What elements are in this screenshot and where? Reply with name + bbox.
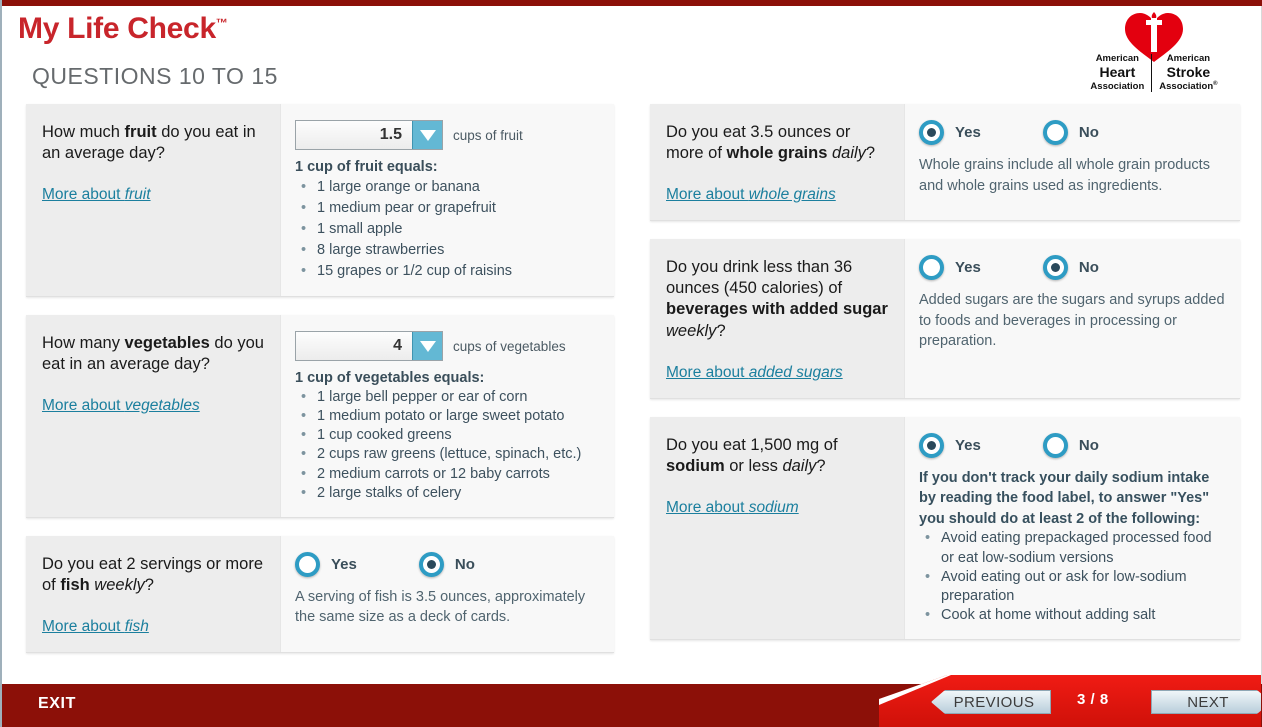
fish-note: A serving of fish is 3.5 ounces, approxi… [295,587,600,628]
sodium-note-heading: If you don't track your daily sodium int… [919,468,1226,530]
asa-line1: American [1159,53,1217,64]
radio-icon[interactable] [1043,120,1068,145]
answer-pane: Yes No A serving of fish is 3.5 ounces, … [280,536,614,652]
fruit-unit-label: cups of fruit [453,128,523,143]
list-item: 1 small apple [315,219,600,240]
question-card-fruit: How much fruit do you eat in an average … [26,104,614,297]
american-stroke-association-text: American Stroke Association® [1152,53,1224,92]
top-accent-bar [2,0,1262,6]
answer-pane: Yes No If you don't track your daily sod… [904,417,1240,639]
answer-pane: 1.5 cups of fruit 1 cup of fruit equals:… [280,104,614,296]
registered-symbol: ® [1213,81,1217,87]
radio-icon[interactable] [919,255,944,280]
radio-icon[interactable] [295,552,320,577]
question-text-vegetables: How many vegetables do you eat in an ave… [42,333,264,375]
radio-icon[interactable] [1043,255,1068,280]
american-heart-association-text: American Heart Association [1083,53,1151,92]
list-item: 2 medium carrots or 12 baby carrots [315,465,600,484]
vegetables-cups-value: 4 [296,332,412,360]
aha-asa-logo: American Heart Association American Stro… [1063,8,1245,94]
whole-grains-radio-yes[interactable]: Yes [919,120,981,145]
question-card-added-sugars: Do you drink less than 36 ounces (450 ca… [650,239,1240,398]
questions-column-right: Do you eat 3.5 ounces or more of whole g… [650,104,1240,658]
questions-column-left: How much fruit do you eat in an average … [26,104,614,671]
radio-label: No [1079,124,1099,141]
more-about-sodium-link[interactable]: More about sodium [666,499,799,517]
vegetables-equivalents-list: 1 large bell pepper or ear of corn 1 med… [295,388,600,503]
list-item: 1 large bell pepper or ear of corn [315,388,600,407]
radio-icon[interactable] [919,433,944,458]
section-subtitle: QUESTIONS 10 TO 15 [32,63,278,90]
list-item: 1 medium potato or large sweet potato [315,407,600,426]
question-text-fish: Do you eat 2 servings or more of fish we… [42,554,264,596]
fruit-select-row: 1.5 cups of fruit [295,120,600,150]
chevron-down-icon[interactable] [412,332,442,360]
list-item: Cook at home without adding salt [939,606,1226,625]
radio-icon[interactable] [919,120,944,145]
logo-wordmark: American Heart Association American Stro… [1063,53,1245,92]
radio-label: No [455,556,475,573]
question-pane: Do you eat 3.5 ounces or more of whole g… [650,104,904,220]
radio-label: Yes [331,556,357,573]
trademark-symbol: ™ [216,16,228,30]
list-item: Avoid eating out or ask for low-sodium p… [939,568,1226,606]
more-about-added-sugars-link[interactable]: More about added sugars [666,364,843,382]
added-sugars-radio-yes[interactable]: Yes [919,255,981,280]
list-item: 1 cup cooked greens [315,426,600,445]
exit-button[interactable]: EXIT [38,695,76,713]
question-text-added-sugars: Do you drink less than 36 ounces (450 ca… [666,257,888,341]
fruit-equivalents-heading: 1 cup of fruit equals: [295,159,600,175]
fish-radio-no[interactable]: No [419,552,475,577]
answer-pane: Yes No Added sugars are the sugars and s… [904,239,1240,397]
previous-button[interactable]: PREVIOUS [931,690,1051,714]
question-text-sodium: Do you eat 1,500 mg of sodium or less da… [666,435,888,477]
brand-name: My Life Check [18,12,216,45]
question-pane: Do you drink less than 36 ounces (450 ca… [650,239,904,397]
whole-grains-note: Whole grains include all whole grain pro… [919,155,1226,196]
aha-line2: Heart [1090,64,1144,81]
list-item: Avoid eating prepackaged processed food … [939,529,1226,567]
question-card-whole-grains: Do you eat 3.5 ounces or more of whole g… [650,104,1240,221]
asa-line3: Association® [1159,81,1217,92]
question-pane: How much fruit do you eat in an average … [26,104,280,296]
question-pane: How many vegetables do you eat in an ave… [26,315,280,517]
list-item: 8 large strawberries [315,240,600,261]
sodium-radio-no[interactable]: No [1043,433,1099,458]
answer-pane: Yes No Whole grains include all whole gr… [904,104,1240,220]
question-card-fish: Do you eat 2 servings or more of fish we… [26,536,614,653]
radio-label: Yes [955,124,981,141]
vegetables-equivalents-heading: 1 cup of vegetables equals: [295,370,600,386]
sodium-tips-list: Avoid eating prepackaged processed food … [919,529,1226,625]
list-item: 2 cups raw greens (lettuce, spinach, etc… [315,445,600,464]
question-card-sodium: Do you eat 1,500 mg of sodium or less da… [650,417,1240,640]
next-button[interactable]: NEXT [1151,690,1261,714]
question-text-whole-grains: Do you eat 3.5 ounces or more of whole g… [666,122,888,164]
added-sugars-radio-no[interactable]: No [1043,255,1099,280]
radio-icon[interactable] [419,552,444,577]
vegetables-cups-select[interactable]: 4 [295,331,443,361]
vegetables-unit-label: cups of vegetables [453,339,566,354]
added-sugars-radio-group: Yes No [919,255,1226,280]
list-item: 2 large stalks of celery [315,484,600,503]
fish-radio-group: Yes No [295,552,600,577]
more-about-fish-link[interactable]: More about fish [42,618,149,636]
aha-line3: Association [1090,81,1144,92]
radio-icon[interactable] [1043,433,1068,458]
chevron-down-icon[interactable] [412,121,442,149]
aha-line1: American [1090,53,1144,64]
sodium-radio-yes[interactable]: Yes [919,433,981,458]
fruit-cups-value: 1.5 [296,121,412,149]
asa-line2: Stroke [1159,64,1217,81]
question-pane: Do you eat 1,500 mg of sodium or less da… [650,417,904,639]
list-item: 1 large orange or banana [315,177,600,198]
question-pane: Do you eat 2 servings or more of fish we… [26,536,280,652]
fish-radio-yes[interactable]: Yes [295,552,357,577]
question-text-fruit: How much fruit do you eat in an average … [42,122,264,164]
fruit-equivalents-list: 1 large orange or banana 1 medium pear o… [295,177,600,282]
added-sugars-note: Added sugars are the sugars and syrups a… [919,290,1226,352]
radio-label: Yes [955,437,981,454]
radio-label: No [1079,437,1099,454]
answer-pane: 4 cups of vegetables 1 cup of vegetables… [280,315,614,517]
app-window: My Life Check™ QUESTIONS 10 TO 15 Americ… [0,0,1262,727]
list-item: 1 medium pear or grapefruit [315,198,600,219]
question-card-vegetables: How many vegetables do you eat in an ave… [26,315,614,518]
more-about-whole-grains-link[interactable]: More about whole grains [666,186,836,204]
fruit-cups-select[interactable]: 1.5 [295,120,443,150]
page-indicator: 3 / 8 [1077,691,1109,708]
vegetables-select-row: 4 cups of vegetables [295,331,600,361]
more-about-fruit-link[interactable]: More about fruit [42,186,151,204]
page-title: My Life Check™ [18,14,228,44]
whole-grains-radio-group: Yes No [919,120,1226,145]
list-item: 15 grapes or 1/2 cup of raisins [315,261,600,282]
sodium-radio-group: Yes No [919,433,1226,458]
whole-grains-radio-no[interactable]: No [1043,120,1099,145]
radio-label: No [1079,259,1099,276]
navigation-banner: PREVIOUS 3 / 8 NEXT [879,675,1261,727]
radio-label: Yes [955,259,981,276]
more-about-vegetables-link[interactable]: More about vegetables [42,397,200,415]
